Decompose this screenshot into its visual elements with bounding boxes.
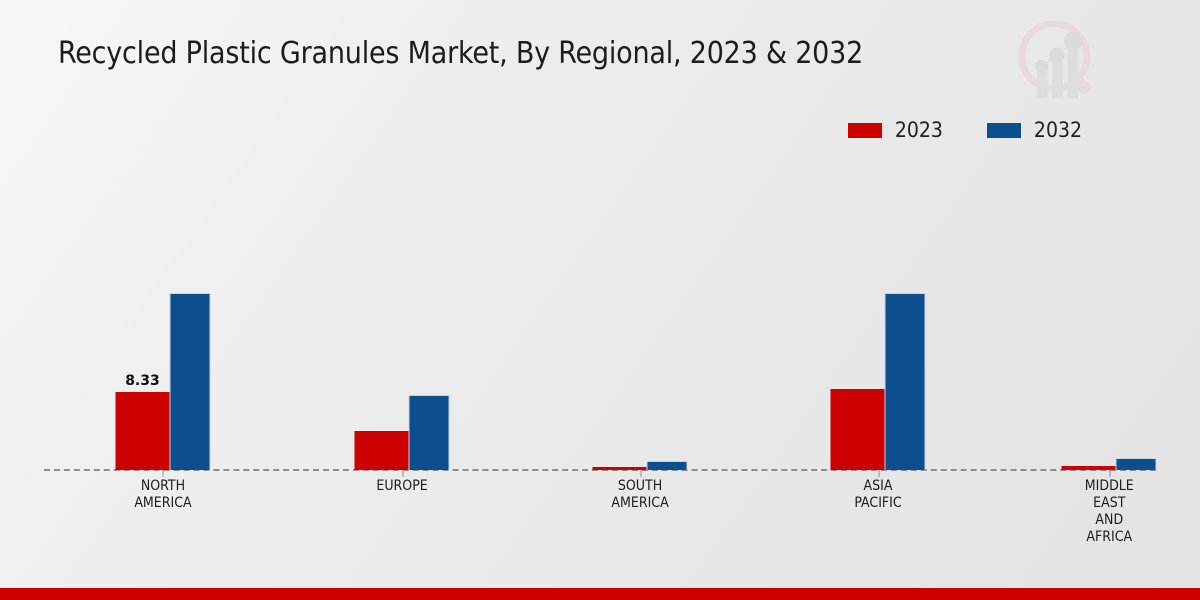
x-axis-label-europe: EUROPE [376, 478, 427, 495]
x-axis-label-line: AND [1085, 512, 1134, 529]
x-axis-tick [878, 470, 879, 477]
x-axis-tick [640, 470, 641, 477]
x-axis-tick [402, 470, 403, 477]
x-axis-label-north-america: NORTH AMERICA [134, 478, 191, 512]
legend-item-2032[interactable]: 2032 [987, 120, 1082, 141]
x-axis-label-line: ASIA [854, 478, 901, 495]
bar-group-south-america [593, 461, 688, 470]
legend-label-2032: 2032 [1034, 120, 1082, 141]
bar-2023-asia-pacific[interactable] [831, 389, 885, 470]
x-axis-label-line: MIDDLE [1085, 478, 1134, 495]
x-axis-label-line: PACIFIC [854, 495, 901, 512]
bar-2023-north-america[interactable]: 8.33 [115, 392, 169, 470]
x-axis-label-line: SOUTH [611, 478, 668, 495]
footer-accent-bar [0, 588, 1200, 600]
bar-group-middle-east-and-africa [1062, 458, 1157, 470]
legend-label-2023: 2023 [895, 120, 943, 141]
bar-2023-europe[interactable] [355, 431, 409, 470]
bar-group-asia-pacific [831, 293, 926, 470]
x-axis-label-line: NORTH [134, 478, 191, 495]
bar-2032-europe[interactable] [409, 395, 450, 470]
x-axis-label-south-america: SOUTH AMERICA [611, 478, 668, 512]
x-axis-label-middle-east-and-africa: MIDDLE EAST AND AFRICA [1085, 478, 1134, 546]
bar-group-europe [355, 395, 450, 470]
x-axis-label-line: AFRICA [1085, 529, 1134, 546]
legend-swatch-2032 [987, 123, 1021, 138]
legend-item-2023[interactable]: 2023 [848, 120, 943, 141]
x-axis-label-line: AMERICA [611, 495, 668, 512]
x-axis-tick [163, 470, 164, 477]
bar-2032-asia-pacific[interactable] [885, 293, 926, 470]
bar-value-2023-north-america: 8.33 [125, 373, 160, 389]
legend-swatch-2023 [848, 123, 882, 138]
x-axis-labels: NORTH AMERICA EUROPE SOUTH AMERICA ASIA … [44, 478, 1156, 578]
x-axis-label-line: EUROPE [376, 478, 427, 495]
x-axis-tick [1109, 470, 1110, 477]
bar-2032-middle-east-and-africa[interactable] [1116, 458, 1157, 470]
x-axis-label-line: AMERICA [134, 495, 191, 512]
x-axis-label-asia-pacific: ASIA PACIFIC [854, 478, 901, 512]
chart-page: Recycled Plastic Granules Market, By Reg… [0, 0, 1200, 600]
market-research-future-logo-watermark [1012, 14, 1108, 106]
page-title: Recycled Plastic Granules Market, By Reg… [58, 36, 863, 71]
chart-legend: 2023 2032 [848, 120, 1082, 141]
bar-2032-south-america[interactable] [647, 461, 688, 470]
x-axis-label-line: EAST [1085, 495, 1134, 512]
bar-2023-south-america[interactable] [593, 467, 647, 470]
plot-area: 8.33 [44, 170, 1156, 471]
bar-2032-north-america[interactable] [169, 293, 210, 470]
bar-2023-middle-east-and-africa[interactable] [1062, 466, 1116, 470]
bar-group-north-america: 8.33 [115, 293, 210, 470]
